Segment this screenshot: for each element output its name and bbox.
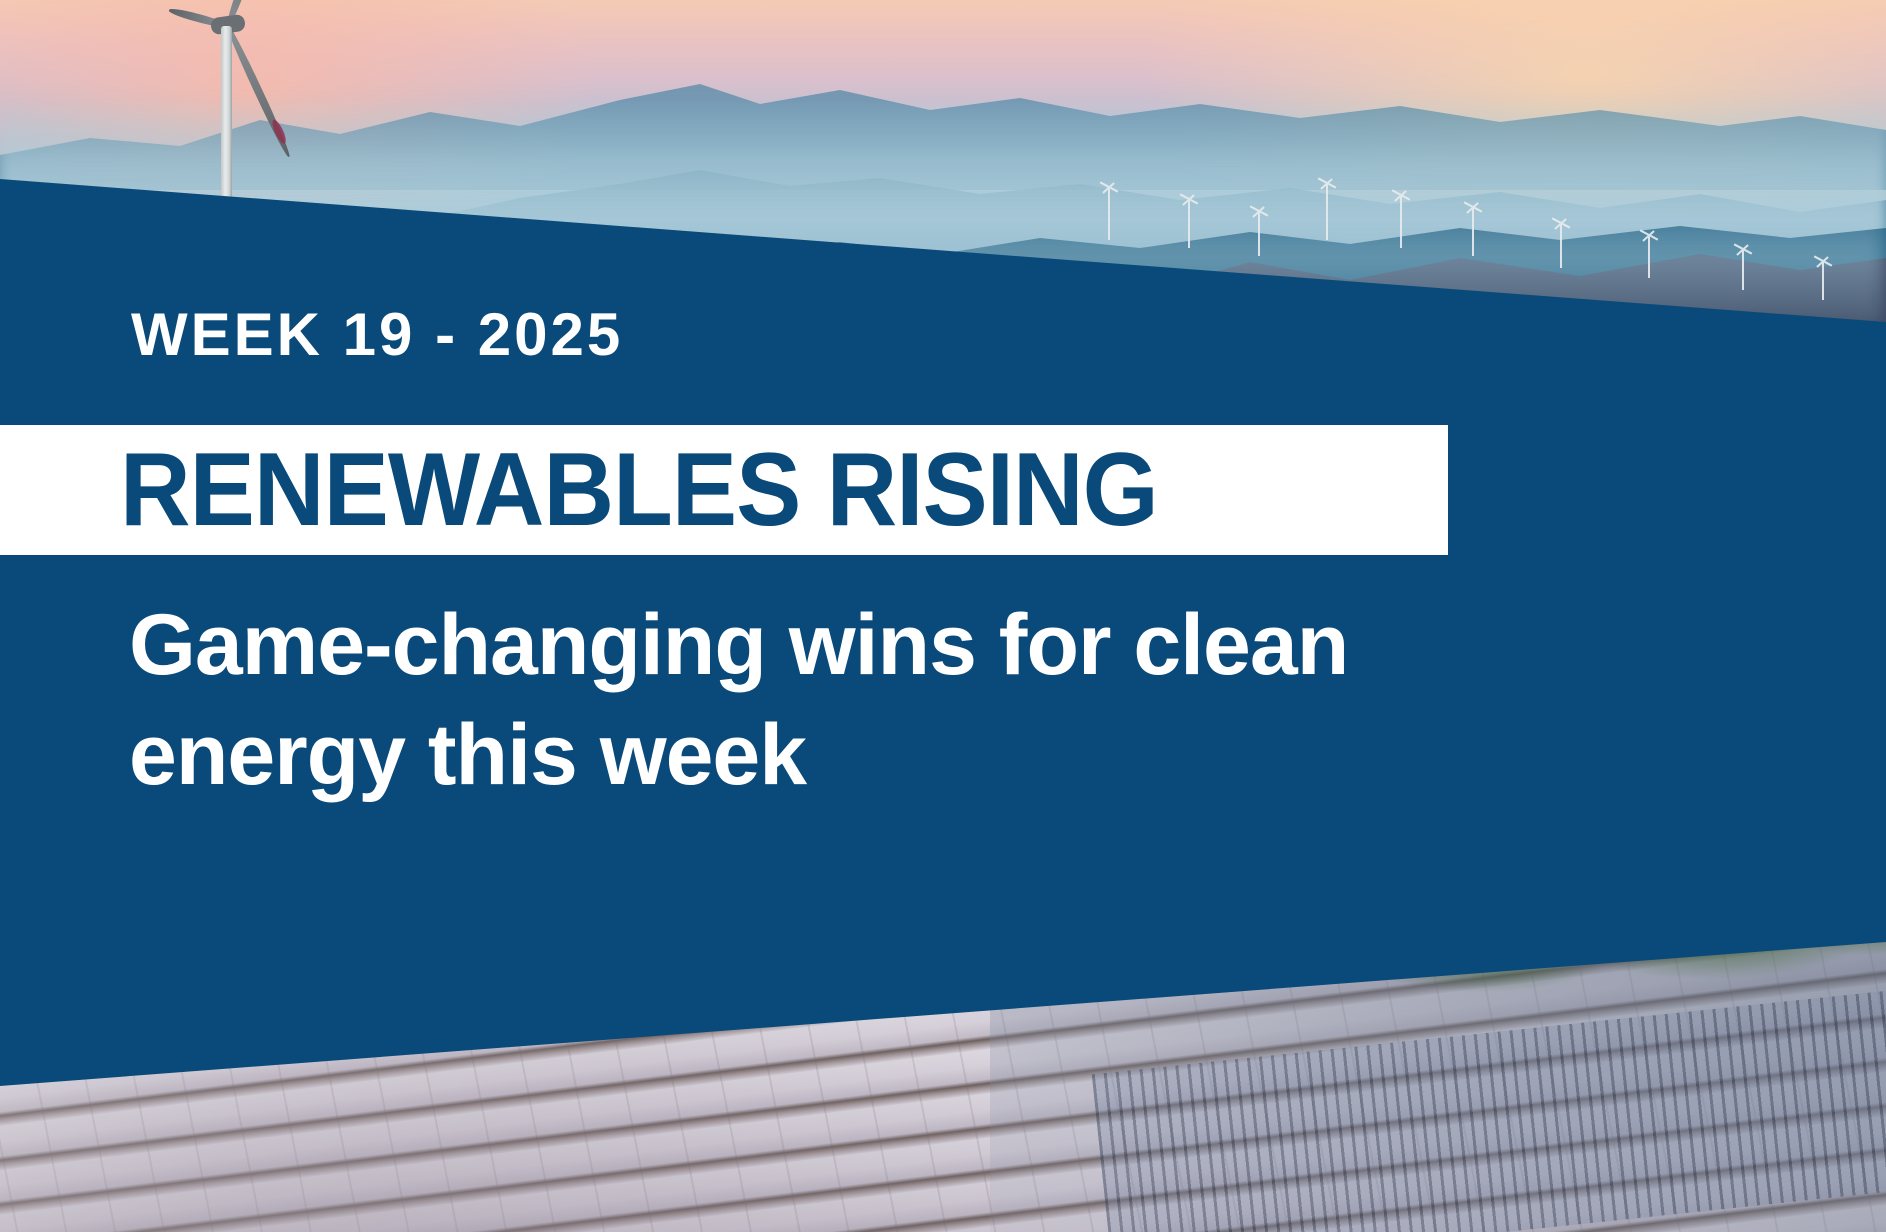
page-title: RENEWABLES RISING	[120, 425, 1158, 555]
week-eyebrow-label: WEEK 19 - 2025	[131, 305, 623, 365]
poster-canvas: WEEK 19 - 2025 RENEWABLES RISING Game-ch…	[0, 0, 1886, 1232]
subtitle: Game-changing wins for clean energy this…	[129, 590, 1469, 810]
subtitle-line-1: Game-changing wins for clean	[129, 590, 1469, 700]
subtitle-line-2: energy this week	[129, 700, 1469, 810]
poster-content: WEEK 19 - 2025 RENEWABLES RISING Game-ch…	[0, 0, 1886, 1232]
